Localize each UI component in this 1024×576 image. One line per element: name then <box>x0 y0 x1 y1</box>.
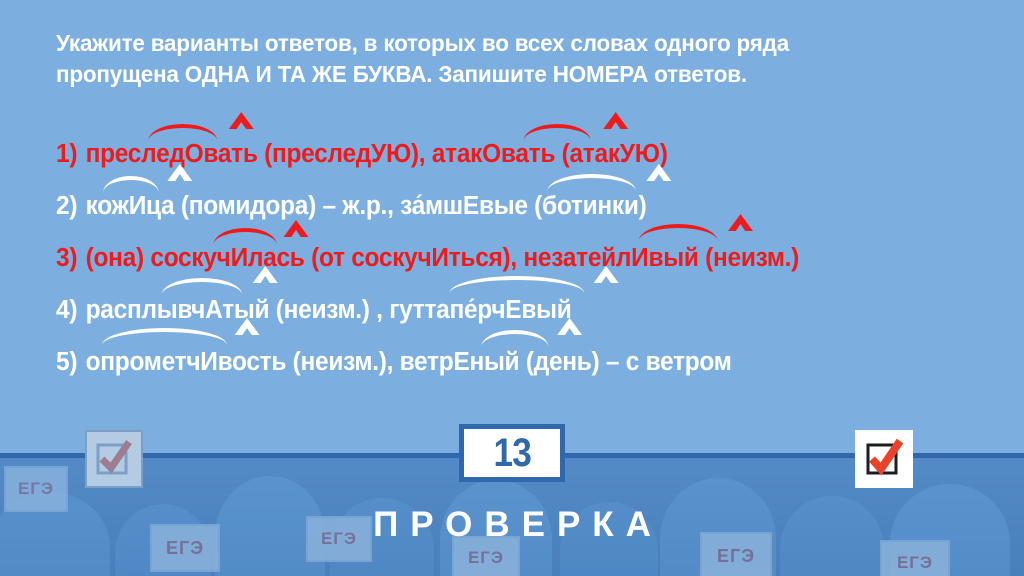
checkbox-checked-icon <box>93 438 135 480</box>
answer-options-list: 1) преследОвать (преследУЮ), атакОвать (… <box>56 128 1006 388</box>
task-number: 13 <box>493 433 530 473</box>
slide-root: Укажите варианты ответов, в которых во в… <box>0 0 1024 576</box>
checkbox-tile-left[interactable] <box>85 430 143 488</box>
answer-option-text: опрометчИвость (неизм.), ветрЕный (день)… <box>86 348 732 376</box>
answer-option-number: 4) <box>56 296 77 324</box>
answer-option-number: 2) <box>56 192 77 220</box>
task-number-badge: 13 <box>459 424 565 482</box>
answer-option-text: (она) соскучИлась (от соскучИться), неза… <box>86 244 799 272</box>
footer-label: ПРОВЕРКА <box>0 505 1024 545</box>
answer-option-4[interactable]: 4) расплывчАтый (неизм.) , гуттапе́рчЕвы… <box>56 284 968 336</box>
answer-option-number: 5) <box>56 348 77 376</box>
answer-option-text: кожИца (помидора) – ж.р., за́мшЕвые (бот… <box>86 192 647 220</box>
checkbox-checked-icon <box>863 438 905 480</box>
answer-option-1[interactable]: 1) преследОвать (преследУЮ), атакОвать (… <box>56 128 968 180</box>
answer-option-3[interactable]: 3) (она) соскучИлась (от соскучИться), н… <box>56 232 968 284</box>
root-arc-mark <box>148 124 217 141</box>
answer-option-number: 1) <box>56 140 77 168</box>
answer-option-2[interactable]: 2) кожИца (помидора) – ж.р., за́мшЕвые (… <box>56 180 968 232</box>
root-arc-mark <box>524 124 591 141</box>
answer-option-5[interactable]: 5) опрометчИвость (неизм.), ветрЕный (де… <box>56 336 968 388</box>
answer-option-text: преследОвать (преследУЮ), атакОвать (ата… <box>86 140 668 168</box>
checkbox-tile-right[interactable] <box>855 430 913 488</box>
answer-option-number: 3) <box>56 244 77 272</box>
question-prompt: Укажите варианты ответов, в которых во в… <box>56 28 944 89</box>
answer-option-text: расплывчАтый (неизм.) , гуттапе́рчЕвый <box>86 296 572 324</box>
